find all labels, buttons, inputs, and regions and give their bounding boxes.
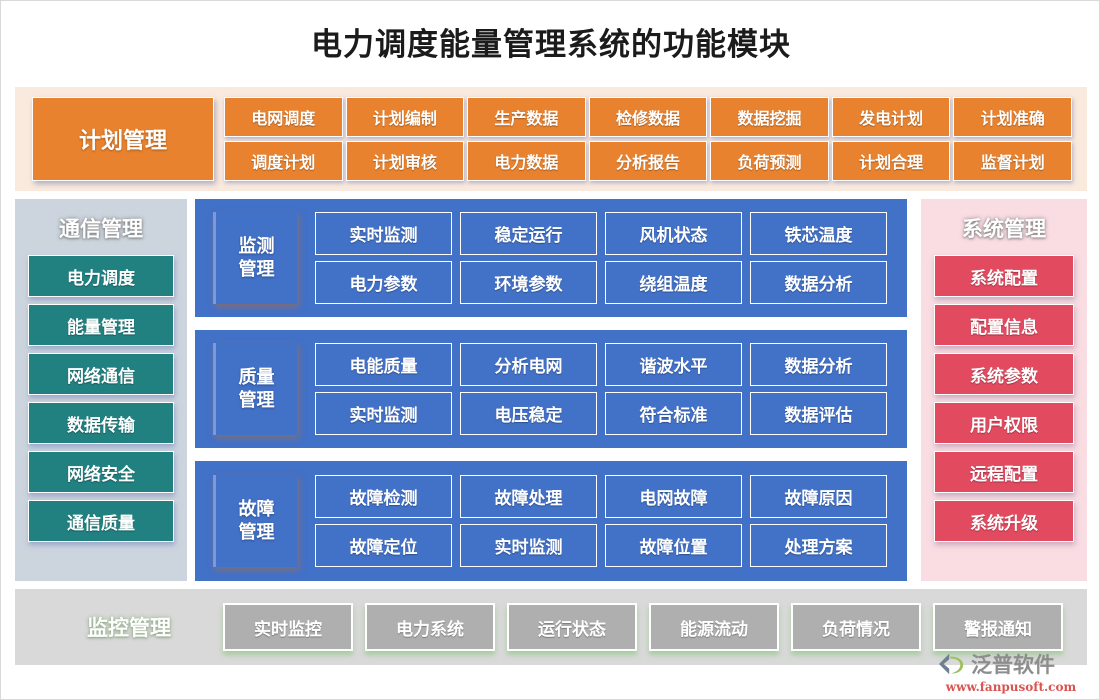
plan-item[interactable]: 电力数据 bbox=[467, 141, 586, 181]
monitoring-item[interactable]: 电力参数 bbox=[315, 261, 452, 304]
middle-area: 通信管理 电力调度 能量管理 网络通信 数据传输 网络安全 通信质量 监测 管理… bbox=[15, 199, 1087, 581]
system-item[interactable]: 配置信息 bbox=[934, 304, 1074, 346]
fault-item[interactable]: 故障检测 bbox=[315, 475, 452, 518]
monitoring-management-items: 实时监测 稳定运行 风机状态 铁芯温度 电力参数 环境参数 绕组温度 数据分析 bbox=[315, 212, 887, 304]
plan-item[interactable]: 计划审核 bbox=[346, 141, 465, 181]
quality-item[interactable]: 数据评估 bbox=[750, 392, 887, 435]
communication-management-items: 电力调度 能量管理 网络通信 数据传输 网络安全 通信质量 bbox=[15, 251, 187, 542]
fault-item[interactable]: 处理方案 bbox=[750, 524, 887, 567]
system-item[interactable]: 远程配置 bbox=[934, 451, 1074, 493]
fanpu-logo-icon bbox=[937, 651, 967, 677]
monitor-item[interactable]: 负荷情况 bbox=[791, 603, 921, 651]
monitoring-item[interactable]: 风机状态 bbox=[605, 212, 742, 255]
fault-item[interactable]: 故障定位 bbox=[315, 524, 452, 567]
communication-item[interactable]: 通信质量 bbox=[28, 500, 174, 542]
logo-url: www.fanpusoft.com bbox=[937, 680, 1085, 694]
plan-item[interactable]: 发电计划 bbox=[832, 97, 951, 137]
communication-management-section: 通信管理 电力调度 能量管理 网络通信 数据传输 网络安全 通信质量 bbox=[15, 199, 187, 581]
system-management-header: 系统管理 bbox=[921, 205, 1087, 251]
page-title: 电力调度能量管理系统的功能模块 bbox=[1, 19, 1100, 64]
header-line-1: 监测 bbox=[239, 235, 275, 258]
quality-item[interactable]: 分析电网 bbox=[460, 343, 597, 386]
monitoring-item[interactable]: 稳定运行 bbox=[460, 212, 597, 255]
quality-management-header: 质量 管理 bbox=[213, 343, 297, 435]
plan-item[interactable]: 数据挖掘 bbox=[710, 97, 829, 137]
monitor-management-section: 监控管理 实时监控 电力系统 运行状态 能源流动 负荷情况 警报通知 bbox=[15, 589, 1087, 665]
monitor-item[interactable]: 电力系统 bbox=[365, 603, 495, 651]
plan-item[interactable]: 负荷预测 bbox=[710, 141, 829, 181]
monitoring-item[interactable]: 铁芯温度 bbox=[750, 212, 887, 255]
fault-management-block: 故障 管理 故障检测 故障处理 电网故障 故障原因 故障定位 实时监测 故障位置… bbox=[195, 461, 907, 581]
quality-management-block: 质量 管理 电能质量 分析电网 谐波水平 数据分析 实时监测 电压稳定 符合标准… bbox=[195, 330, 907, 448]
quality-item[interactable]: 谐波水平 bbox=[605, 343, 742, 386]
system-management-items: 系统配置 配置信息 系统参数 用户权限 远程配置 系统升级 bbox=[921, 251, 1087, 542]
monitoring-item[interactable]: 环境参数 bbox=[460, 261, 597, 304]
quality-item[interactable]: 实时监测 bbox=[315, 392, 452, 435]
diagram-page: 电力调度能量管理系统的功能模块 计划管理 电网调度 计划编制 生产数据 检修数据… bbox=[0, 0, 1100, 700]
plan-item[interactable]: 计划编制 bbox=[346, 97, 465, 137]
header-line-1: 故障 bbox=[239, 498, 275, 521]
brand-logo: 泛普软件 www.fanpusoft.com bbox=[937, 649, 1085, 693]
plan-item[interactable]: 生产数据 bbox=[467, 97, 586, 137]
monitor-management-items: 实时监控 电力系统 运行状态 能源流动 负荷情况 警报通知 bbox=[223, 603, 1063, 651]
monitor-item[interactable]: 警报通知 bbox=[933, 603, 1063, 651]
quality-item[interactable]: 数据分析 bbox=[750, 343, 887, 386]
communication-item[interactable]: 能量管理 bbox=[28, 304, 174, 346]
system-item[interactable]: 系统配置 bbox=[934, 255, 1074, 297]
monitoring-item[interactable]: 数据分析 bbox=[750, 261, 887, 304]
fault-item[interactable]: 故障处理 bbox=[460, 475, 597, 518]
fault-management-header: 故障 管理 bbox=[213, 475, 297, 567]
center-blocks: 监测 管理 实时监测 稳定运行 风机状态 铁芯温度 电力参数 环境参数 绕组温度… bbox=[195, 199, 907, 581]
plan-item[interactable]: 调度计划 bbox=[224, 141, 343, 181]
system-management-section: 系统管理 系统配置 配置信息 系统参数 用户权限 远程配置 系统升级 bbox=[921, 199, 1087, 581]
quality-item[interactable]: 电能质量 bbox=[315, 343, 452, 386]
plan-item[interactable]: 检修数据 bbox=[589, 97, 708, 137]
fault-item[interactable]: 故障位置 bbox=[605, 524, 742, 567]
plan-management-header: 计划管理 bbox=[32, 97, 214, 181]
plan-management-items: 电网调度 计划编制 生产数据 检修数据 数据挖掘 发电计划 计划准确 调度计划 … bbox=[224, 97, 1072, 181]
monitor-management-header: 监控管理 bbox=[49, 603, 209, 651]
communication-management-header: 通信管理 bbox=[15, 205, 187, 251]
monitor-item[interactable]: 运行状态 bbox=[507, 603, 637, 651]
header-line-2: 管理 bbox=[239, 521, 275, 544]
monitor-management-header-wrap: 监控管理 bbox=[49, 603, 209, 651]
quality-item[interactable]: 电压稳定 bbox=[460, 392, 597, 435]
header-line-2: 管理 bbox=[239, 258, 275, 281]
logo-name: 泛普软件 bbox=[971, 649, 1055, 679]
plan-item[interactable]: 电网调度 bbox=[224, 97, 343, 137]
fault-item[interactable]: 故障原因 bbox=[750, 475, 887, 518]
quality-item[interactable]: 符合标准 bbox=[605, 392, 742, 435]
system-item[interactable]: 系统升级 bbox=[934, 500, 1074, 542]
logo-row: 泛普软件 bbox=[937, 649, 1085, 679]
quality-management-items: 电能质量 分析电网 谐波水平 数据分析 实时监测 电压稳定 符合标准 数据评估 bbox=[315, 343, 887, 435]
monitoring-item[interactable]: 绕组温度 bbox=[605, 261, 742, 304]
monitoring-item[interactable]: 实时监测 bbox=[315, 212, 452, 255]
fault-item[interactable]: 实时监测 bbox=[460, 524, 597, 567]
monitor-item[interactable]: 能源流动 bbox=[649, 603, 779, 651]
communication-item[interactable]: 网络通信 bbox=[28, 353, 174, 395]
monitoring-management-header: 监测 管理 bbox=[213, 212, 297, 304]
communication-item[interactable]: 网络安全 bbox=[28, 451, 174, 493]
header-line-1: 质量 bbox=[239, 366, 275, 389]
plan-item[interactable]: 计划合理 bbox=[832, 141, 951, 181]
plan-item[interactable]: 监督计划 bbox=[953, 141, 1072, 181]
system-item[interactable]: 系统参数 bbox=[934, 353, 1074, 395]
monitor-item[interactable]: 实时监控 bbox=[223, 603, 353, 651]
monitoring-management-block: 监测 管理 实时监测 稳定运行 风机状态 铁芯温度 电力参数 环境参数 绕组温度… bbox=[195, 199, 907, 317]
plan-management-section: 计划管理 电网调度 计划编制 生产数据 检修数据 数据挖掘 发电计划 计划准确 … bbox=[15, 87, 1087, 191]
fault-management-items: 故障检测 故障处理 电网故障 故障原因 故障定位 实时监测 故障位置 处理方案 bbox=[315, 475, 887, 567]
plan-item[interactable]: 分析报告 bbox=[589, 141, 708, 181]
communication-item[interactable]: 电力调度 bbox=[28, 255, 174, 297]
fault-item[interactable]: 电网故障 bbox=[605, 475, 742, 518]
header-line-2: 管理 bbox=[239, 389, 275, 412]
plan-item[interactable]: 计划准确 bbox=[953, 97, 1072, 137]
communication-item[interactable]: 数据传输 bbox=[28, 402, 174, 444]
system-item[interactable]: 用户权限 bbox=[934, 402, 1074, 444]
